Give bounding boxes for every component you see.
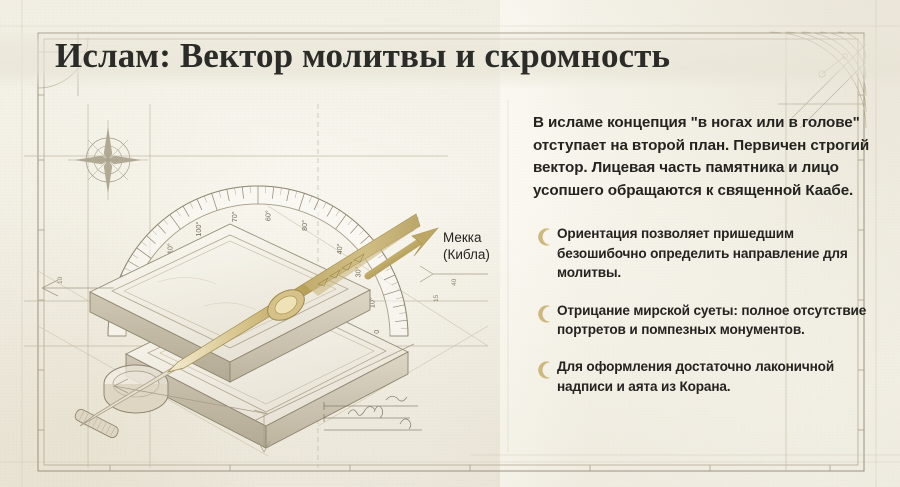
page-title: Ислам: Вектор молитвы и скромность [55,36,670,76]
list-item-text: Отрицание мирской суеты: полное отсутств… [557,301,878,340]
svg-text:100°: 100° [194,222,203,237]
svg-text:10: 10 [57,276,64,284]
svg-text:80°: 80° [300,220,309,231]
svg-text:70°: 70° [230,211,239,222]
svg-text:40: 40 [451,278,458,286]
content-column: В исламе концепция "в ногах или в голове… [533,112,878,415]
list-item: Для оформления достаточно лаконичной над… [533,357,878,396]
list-item-text: Для оформления достаточно лаконичной над… [557,357,878,396]
list-item: Ориентация позволяет пришедшим безошибоч… [533,224,878,282]
illustration-panel: 130° 110° 100° 70° 60° 80° 40° 30° 10° 0… [18,96,510,476]
svg-text:60°: 60° [264,210,273,221]
list-item: Отрицание мирской суеты: полное отсутств… [533,301,878,340]
list-item-text: Ориентация позволяет пришедшим безошибоч… [557,224,878,282]
lede-paragraph: В исламе концепция "в ногах или в голове… [533,112,878,202]
slide-root: Ислам: Вектор молитвы и скромность [0,0,900,487]
svg-text:40°: 40° [335,243,344,254]
svg-text:0: 0 [372,330,381,334]
crescent-moon-icon [533,227,557,247]
crescent-moon-icon [533,360,557,380]
compass-rose-icon [68,120,148,200]
svg-text:15: 15 [433,294,440,302]
bullet-list: Ориентация позволяет пришедшим безошибоч… [533,224,878,396]
crescent-moon-icon [533,304,557,324]
